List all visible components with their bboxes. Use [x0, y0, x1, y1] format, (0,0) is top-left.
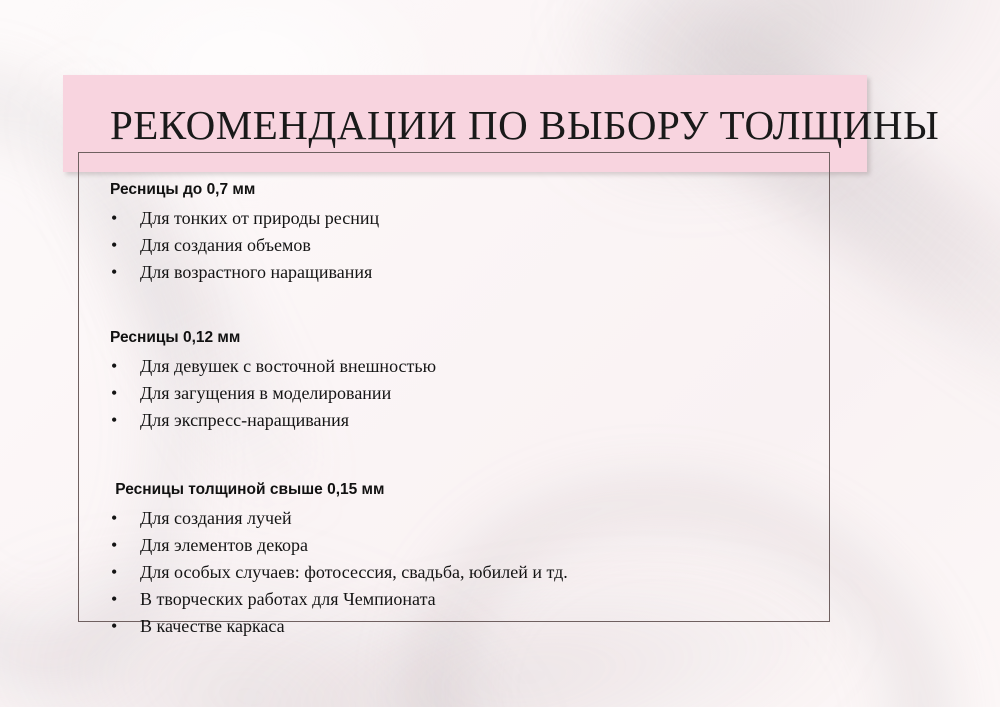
- bullet-dot-icon: •: [111, 353, 117, 380]
- list-item: • В качестве каркаса: [78, 613, 830, 640]
- list-item: • Для создания объемов: [78, 232, 830, 259]
- list-item: • Для загущения в моделировании: [78, 380, 830, 407]
- bullet-list: • Для девушек с восточной внешностью • Д…: [78, 353, 830, 434]
- list-item: • В творческих работах для Чемпионата: [78, 586, 830, 613]
- section-heading: Ресницы толщиной свыше 0,15 мм: [78, 480, 830, 500]
- bullet-list: • Для создания лучей • Для элементов дек…: [78, 505, 830, 640]
- list-item: • Для элементов декора: [78, 532, 830, 559]
- bullet-dot-icon: •: [111, 505, 117, 532]
- list-item-label: Для экспресс-наращивания: [140, 410, 349, 430]
- list-item-label: В качестве каркаса: [140, 616, 285, 636]
- list-item-label: Для тонких от природы ресниц: [140, 208, 379, 228]
- section-thickness-over-0-15: Ресницы толщиной свыше 0,15 мм • Для соз…: [78, 480, 830, 640]
- list-item-label: Для загущения в моделировании: [140, 383, 391, 403]
- bullet-dot-icon: •: [111, 559, 117, 586]
- list-item-label: Для возрастного наращивания: [140, 262, 372, 282]
- content-body: Ресницы до 0,7 мм • Для тонких от природ…: [78, 152, 830, 622]
- list-item: • Для экспресс-наращивания: [78, 407, 830, 434]
- bullet-dot-icon: •: [111, 380, 117, 407]
- section-thickness-0-12: Ресницы 0,12 мм • Для девушек с восточно…: [78, 328, 830, 434]
- list-item: • Для создания лучей: [78, 505, 830, 532]
- list-item-label: Для девушек с восточной внешностью: [140, 356, 436, 376]
- bullet-dot-icon: •: [111, 205, 117, 232]
- list-item-label: В творческих работах для Чемпионата: [140, 589, 436, 609]
- bullet-dot-icon: •: [111, 259, 117, 286]
- section-thickness-0-7: Ресницы до 0,7 мм • Для тонких от природ…: [78, 180, 830, 286]
- list-item: • Для особых случаев: фотосессия, свадьб…: [78, 559, 830, 586]
- bullet-dot-icon: •: [111, 532, 117, 559]
- list-item: • Для девушек с восточной внешностью: [78, 353, 830, 380]
- section-heading: Ресницы до 0,7 мм: [78, 180, 830, 200]
- bullet-list: • Для тонких от природы ресниц • Для соз…: [78, 205, 830, 286]
- bullet-dot-icon: •: [111, 232, 117, 259]
- list-item: • Для тонких от природы ресниц: [78, 205, 830, 232]
- list-item-label: Для особых случаев: фотосессия, свадьба,…: [140, 562, 568, 582]
- bullet-dot-icon: •: [111, 613, 117, 640]
- list-item-label: Для создания объемов: [140, 235, 311, 255]
- slide: РЕКОМЕНДАЦИИ ПО ВЫБОРУ ТОЛЩИНЫ Ресницы д…: [0, 0, 1000, 707]
- bullet-dot-icon: •: [111, 586, 117, 613]
- section-heading: Ресницы 0,12 мм: [78, 328, 830, 348]
- list-item-label: Для элементов декора: [140, 535, 308, 555]
- list-item: • Для возрастного наращивания: [78, 259, 830, 286]
- page-title: РЕКОМЕНДАЦИИ ПО ВЫБОРУ ТОЛЩИНЫ: [110, 101, 850, 149]
- bullet-dot-icon: •: [111, 407, 117, 434]
- list-item-label: Для создания лучей: [140, 508, 292, 528]
